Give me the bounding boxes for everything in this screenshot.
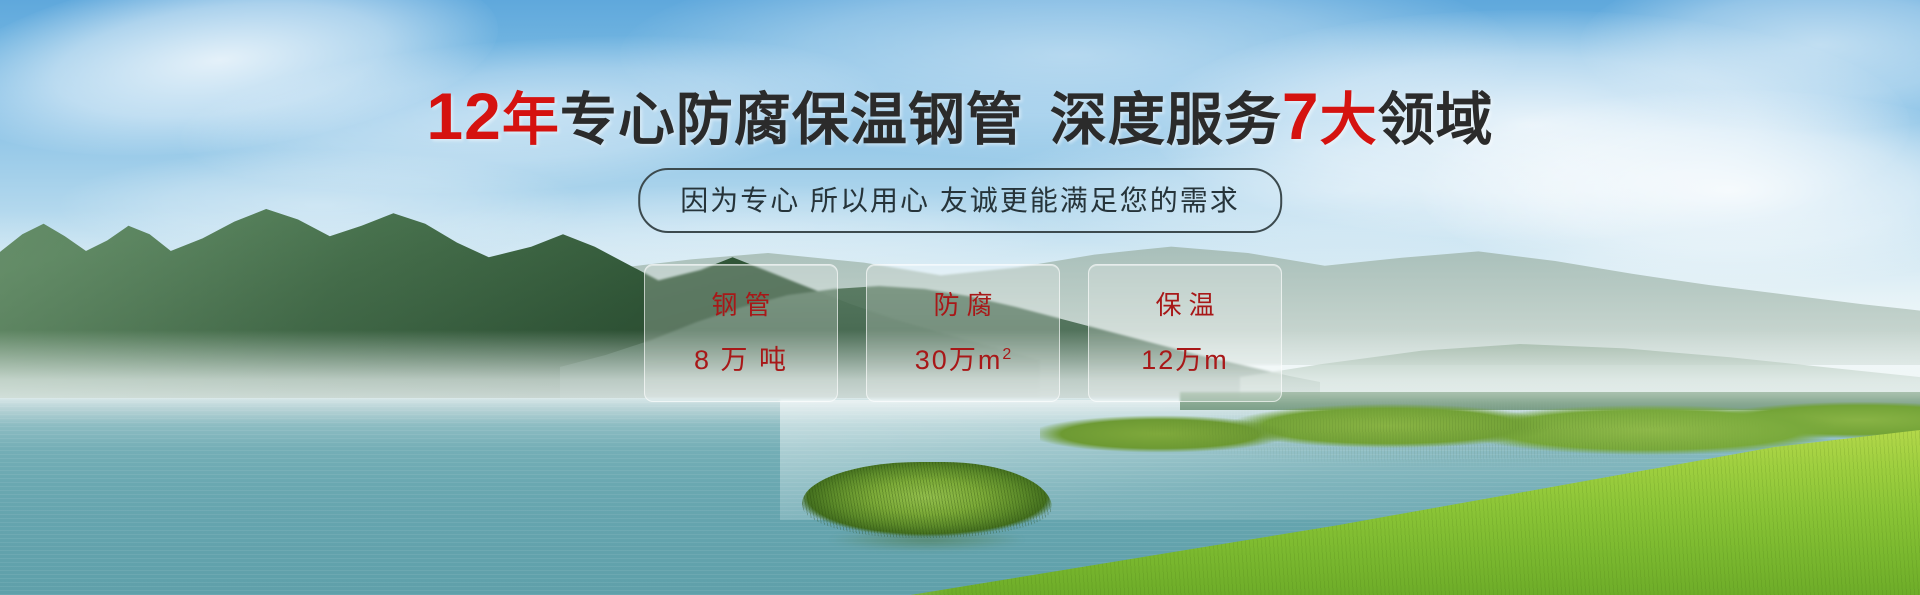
islet-texture — [802, 462, 1052, 538]
headline-fields-number: 7 — [1282, 79, 1320, 153]
stat-card-title: 保温 — [1148, 285, 1221, 322]
headline-main-first: 专心防腐保温钢管 — [560, 88, 1024, 152]
stat-card-steel-pipe[interactable]: 钢管 8 万 吨 — [644, 264, 838, 402]
promo-banner: 12年专心防腐保温钢管深度服务7大领域 因为专心 所以用心 友诚更能满足您的需求… — [0, 0, 1920, 595]
headline-fields-unit: 大 — [1320, 88, 1378, 152]
stat-card-group: 钢管 8 万 吨 防腐 30万m2 保温 12万m — [644, 264, 1282, 402]
stat-card-insulation[interactable]: 保温 12万m — [1088, 264, 1282, 402]
stat-card-anticorrosion[interactable]: 防腐 30万m2 — [866, 264, 1060, 402]
headline-years-number: 12 — [426, 79, 501, 153]
headline-main-second: 深度服务 — [1050, 88, 1282, 152]
subtitle-pill: 因为专心 所以用心 友诚更能满足您的需求 — [638, 168, 1282, 233]
stat-card-title: 防腐 — [926, 285, 999, 322]
stat-card-value-text: 8 万 吨 — [694, 345, 788, 375]
stat-card-value: 12万m — [1141, 338, 1229, 377]
headline-main-third: 领域 — [1378, 88, 1494, 152]
banner-headline: 12年专心防腐保温钢管深度服务7大领域 — [0, 82, 1920, 151]
stat-card-title: 钢管 — [704, 285, 777, 322]
stat-card-value-text: 30万m — [915, 345, 1003, 375]
headline-years-unit: 年 — [502, 88, 560, 152]
stat-card-value-superscript: 2 — [1002, 346, 1011, 363]
stat-card-value: 8 万 吨 — [694, 338, 788, 377]
stat-card-value-text: 12万m — [1141, 345, 1229, 375]
stat-card-value: 30万m2 — [915, 338, 1011, 377]
